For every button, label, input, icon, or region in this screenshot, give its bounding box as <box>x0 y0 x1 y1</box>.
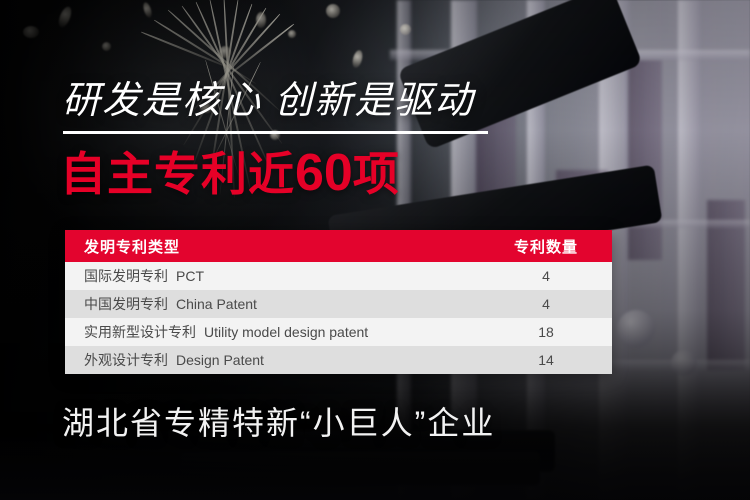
table-row: 中国发明专利China Patent 4 <box>65 290 612 318</box>
table-row: 实用新型设计专利Utility model design patent 18 <box>65 318 612 346</box>
cell-patent-count: 14 <box>480 346 612 374</box>
cell-patent-count: 4 <box>480 262 612 290</box>
patent-type-cn: 中国发明专利 <box>84 296 168 312</box>
column-header-patent-type: 发明专利类型 <box>65 230 480 262</box>
patent-type-en: PCT <box>176 268 204 284</box>
patent-type-cn: 实用新型设计专利 <box>84 324 196 340</box>
headline-divider-rule <box>63 131 488 134</box>
patent-table-head: 发明专利类型 专利数量 <box>65 230 612 262</box>
table-header-row: 发明专利类型 专利数量 <box>65 230 612 262</box>
patent-promo-banner: 研发是核心 创新是驱动 自主专利近60项 发明专利类型 专利数量 国际发明专利P… <box>0 0 750 500</box>
patent-type-cn: 外观设计专利 <box>84 352 168 368</box>
patent-type-en: Design Patent <box>176 352 264 368</box>
cell-patent-type: 实用新型设计专利Utility model design patent <box>65 318 480 346</box>
headline-slogan: 研发是核心 创新是驱动 <box>62 78 475 124</box>
cell-patent-type: 国际发明专利PCT <box>65 262 480 290</box>
headline-patent-count: 自主专利近60项 <box>60 145 400 202</box>
banner-content: 研发是核心 创新是驱动 自主专利近60项 发明专利类型 专利数量 国际发明专利P… <box>0 0 750 500</box>
headline-award-title: 湖北省专精特新“小巨人”企业 <box>62 403 495 443</box>
table-row: 外观设计专利Design Patent 14 <box>65 346 612 374</box>
column-header-patent-count: 专利数量 <box>480 230 612 262</box>
patent-type-en: Utility model design patent <box>204 324 368 340</box>
patent-type-cn: 国际发明专利 <box>84 268 168 284</box>
headline-suffix: 项 <box>353 148 400 200</box>
cell-patent-type: 外观设计专利Design Patent <box>65 346 480 374</box>
cell-patent-count: 4 <box>480 290 612 318</box>
patent-type-en: China Patent <box>176 296 257 312</box>
patent-table: 发明专利类型 专利数量 国际发明专利PCT 4 中国发明专利China Pate… <box>65 230 612 374</box>
patent-table-body: 国际发明专利PCT 4 中国发明专利China Patent 4 实用新型设计专… <box>65 262 612 374</box>
cell-patent-count: 18 <box>480 318 612 346</box>
headline-number: 60 <box>295 144 353 202</box>
headline-prefix: 自主专利近 <box>60 148 295 200</box>
table-row: 国际发明专利PCT 4 <box>65 262 612 290</box>
cell-patent-type: 中国发明专利China Patent <box>65 290 480 318</box>
